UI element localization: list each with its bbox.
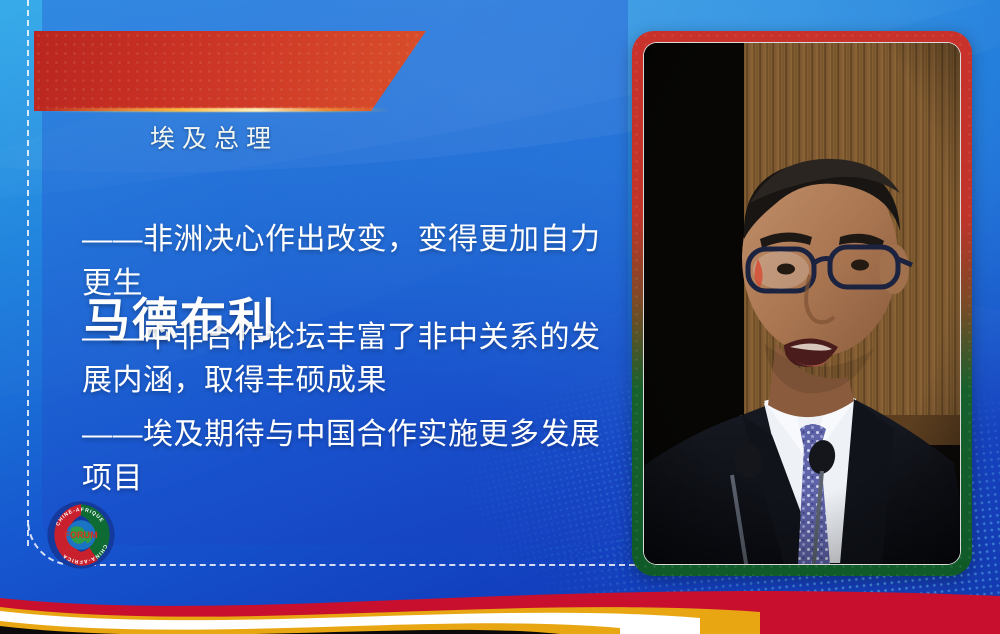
quote-item: ——非洲决心作出改变，变得更加自力更生 — [82, 218, 602, 306]
quote-item: ——埃及期待与中国合作实施更多发展项目 — [82, 413, 602, 501]
bottom-wave-band — [0, 574, 1000, 634]
quote-list: ——非洲决心作出改变，变得更加自力更生 ——中非合作论坛丰富了非中关系的发展内涵… — [82, 218, 602, 511]
page-subtitle: 埃及总理 — [150, 119, 278, 155]
infographic-card: 马德布利 埃及总理 ——非洲决心作出改变，变得更加自力更生 ——中非合作论坛丰富… — [0, 0, 1000, 634]
svg-text:FORUM: FORUM — [64, 530, 97, 540]
quote-item: ——中非合作论坛丰富了非中关系的发展内涵，取得丰硕成果 — [82, 316, 602, 404]
focac-logo: FORUM CHINE-AFRIQUE CHINA-AFRICA — [46, 500, 116, 570]
